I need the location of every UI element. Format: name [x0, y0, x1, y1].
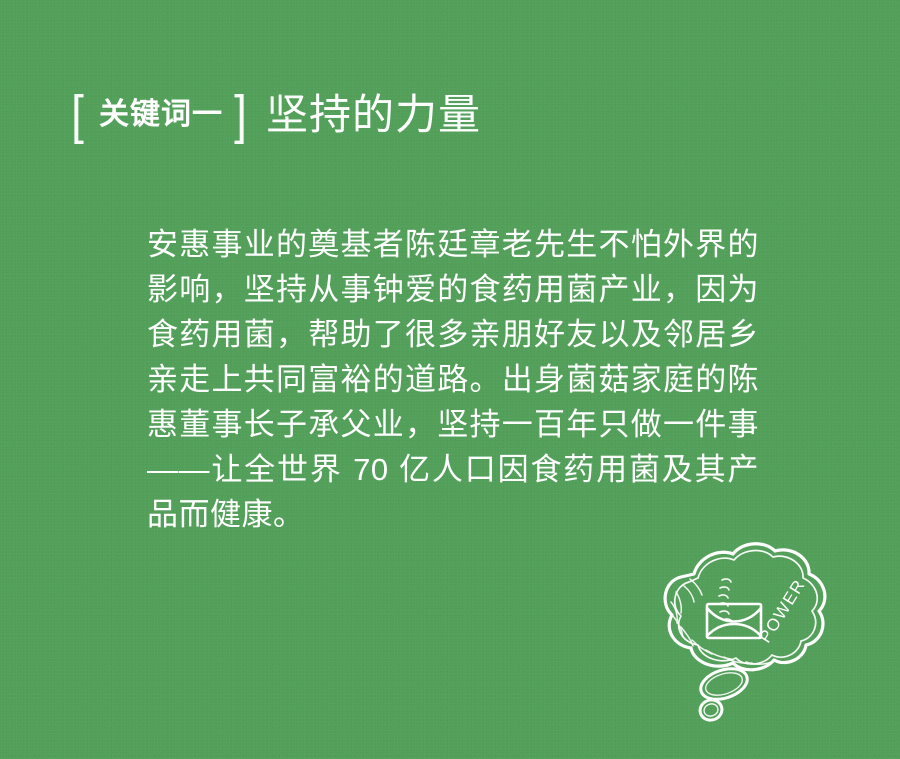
keyword-label: 关键词一	[99, 100, 223, 130]
slide-canvas: [ 关键词一 ] 坚持的力量 安惠事业的奠基者陈廷章老先生不怕外界的影响，坚持从…	[0, 0, 900, 759]
cloud-outline-icon	[665, 544, 825, 670]
thought-bubble-illustration: POWER	[636, 532, 846, 737]
page-title: [ 关键词一 ] 坚持的力量	[70, 88, 481, 142]
bracket-right-icon: ]	[234, 88, 247, 142]
body-paragraph: 安惠事业的奠基者陈廷章老先生不怕外界的影响，坚持从事钟爱的食药用菌产业，因为食药…	[147, 222, 759, 537]
svg-text:POWER: POWER	[755, 576, 809, 646]
power-label: POWER	[755, 576, 809, 646]
envelope-icon	[707, 604, 761, 638]
cloud-hatching	[671, 579, 772, 664]
stitch-marks	[719, 579, 732, 622]
body-paragraph-block: 安惠事业的奠基者陈廷章老先生不怕外界的影响，坚持从事钟爱的食药用菌产业，因为食药…	[147, 222, 759, 537]
bracket-left-icon: [	[71, 88, 84, 142]
title-text: 坚持的力量	[266, 94, 481, 136]
